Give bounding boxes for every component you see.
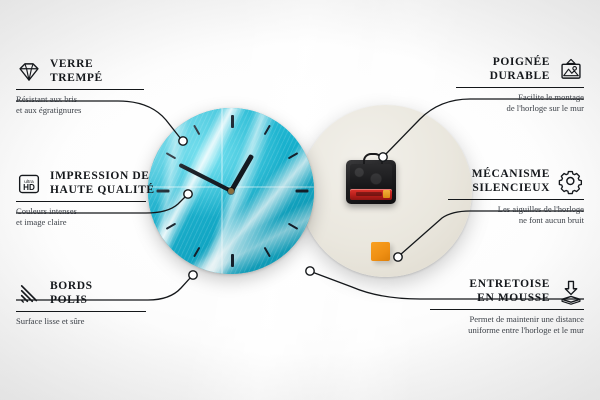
feature-title: IMPRESSION DEHAUTE QUALITÉ <box>50 170 155 197</box>
feature-mecanisme-silencieux: MÉCANISMESILENCIEUX Les aiguilles de l'h… <box>448 168 584 225</box>
feature-divider <box>448 199 584 200</box>
gear-icon <box>558 169 584 195</box>
feature-poignee-durable: POIGNÉEDURABLE Facilite le montage de l'… <box>456 56 584 113</box>
feature-verre-trempe: VERRETREMPÉ Résistant aux bris et aux ég… <box>16 58 144 115</box>
feature-heading: VERRETREMPÉ <box>16 58 144 85</box>
feature-divider <box>16 311 146 312</box>
feature-divider <box>16 201 146 202</box>
feature-divider <box>430 309 584 310</box>
battery <box>350 189 392 200</box>
feature-title: BORDSPOLIS <box>50 280 93 307</box>
feature-heading: ENTRETOISEEN MOUSSE <box>430 278 584 305</box>
glass-gloss-overlay <box>148 108 314 274</box>
feature-divider <box>456 87 584 88</box>
clock-back-panel <box>300 105 472 277</box>
polished-edge-icon <box>16 281 42 307</box>
feature-bords-polis: BORDSPOLIS Surface lisse et sûre <box>16 280 146 327</box>
foam-spacer-pad <box>371 242 390 261</box>
feature-description: Permet de maintenir une distance uniform… <box>430 314 584 335</box>
clock-mechanism <box>346 160 396 204</box>
battery-label <box>356 192 382 196</box>
infographic-canvas: VERRETREMPÉ Résistant aux bris et aux ég… <box>0 0 600 400</box>
svg-text:HD: HD <box>23 183 35 192</box>
feature-impression-haute-qualite: ultra HD IMPRESSION DEHAUTE QUALITÉ Coul… <box>16 170 146 227</box>
feature-heading: MÉCANISMESILENCIEUX <box>448 168 584 195</box>
feature-divider <box>16 89 144 90</box>
battery-positive-terminal <box>383 190 390 198</box>
diamond-icon <box>16 59 42 85</box>
spacer-press-icon <box>558 279 584 305</box>
feature-heading: BORDSPOLIS <box>16 280 146 307</box>
feature-heading: ultra HD IMPRESSION DEHAUTE QUALITÉ <box>16 170 146 197</box>
feature-title: VERRETREMPÉ <box>50 58 103 85</box>
mechanism-housing-detail <box>350 164 392 188</box>
feature-description: Les aiguilles de l'horloge ne font aucun… <box>448 204 584 225</box>
feature-title: MÉCANISMESILENCIEUX <box>472 168 550 195</box>
feature-description: Résistant aux bris et aux égratignures <box>16 94 144 115</box>
feature-title: POIGNÉEDURABLE <box>490 56 550 83</box>
picture-hanger-icon <box>558 57 584 83</box>
feature-heading: POIGNÉEDURABLE <box>456 56 584 83</box>
clock-front-face <box>148 108 314 274</box>
feature-title: ENTRETOISEEN MOUSSE <box>469 278 550 305</box>
feature-description: Couleurs intenses et image claire <box>16 206 146 227</box>
feature-entretoise-en-mousse: ENTRETOISEEN MOUSSE Permet de maintenir … <box>430 278 584 335</box>
feature-description: Surface lisse et sûre <box>16 316 146 326</box>
feature-description: Facilite le montage de l'horloge sur le … <box>456 92 584 113</box>
ultra-hd-icon: ultra HD <box>16 171 42 197</box>
